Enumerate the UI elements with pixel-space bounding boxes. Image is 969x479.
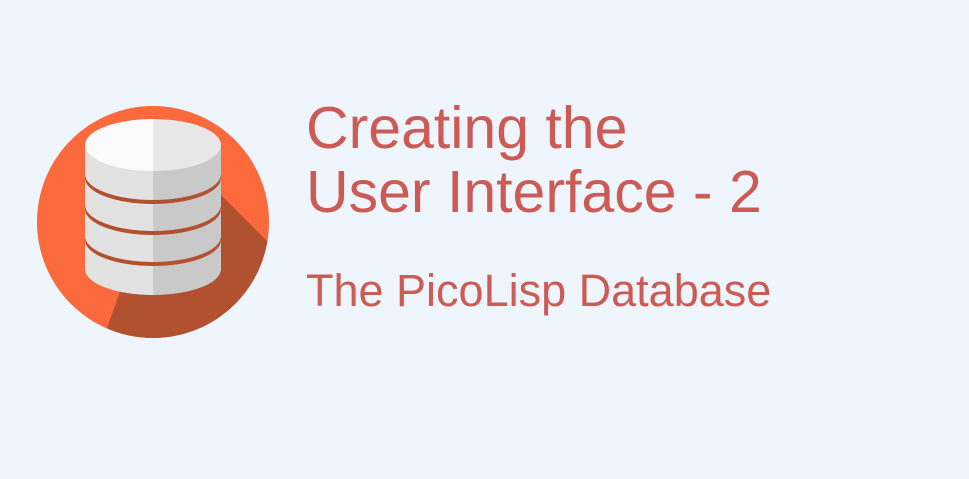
page-title: Creating the User Interface - 2	[306, 96, 926, 224]
database-icon	[37, 106, 269, 338]
slide-text-block: Creating the User Interface - 2 The Pico…	[306, 96, 926, 316]
page-subtitle: The PicoLisp Database	[306, 224, 926, 316]
slide-canvas: Creating the User Interface - 2 The Pico…	[0, 0, 969, 479]
